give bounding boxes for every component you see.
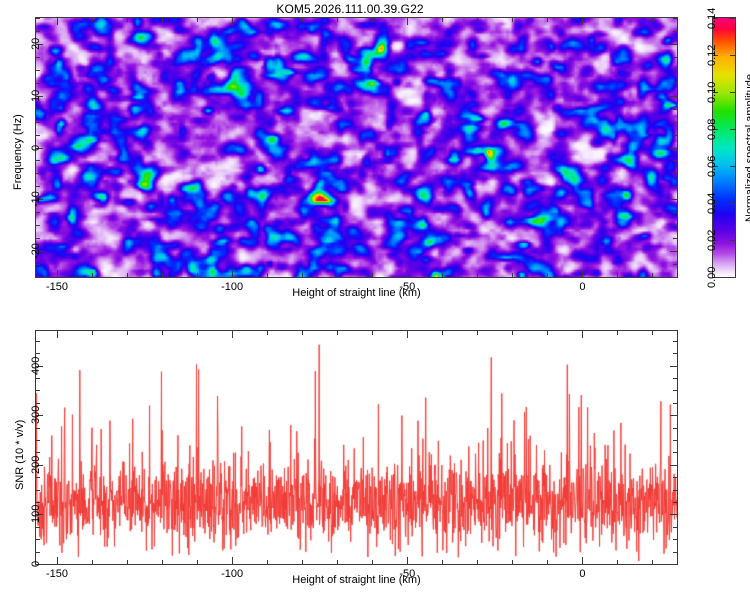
y-minor-tick (673, 440, 677, 441)
y-minor-tick (36, 502, 40, 503)
page-title: KOM5.2026.111.00.39.G22 (0, 2, 700, 16)
y-minor-tick (673, 238, 677, 239)
x-minor-tick (372, 560, 373, 564)
y-minor-tick (36, 277, 40, 278)
x-major-tick (57, 18, 58, 25)
x-minor-tick (267, 560, 268, 564)
y-minor-tick (36, 70, 40, 71)
y-minor-tick (36, 490, 40, 491)
y-minor-tick (36, 527, 40, 528)
colorbar-tick (730, 18, 735, 19)
y-major-tick (670, 148, 677, 149)
x-minor-tick (197, 331, 198, 335)
x-minor-tick (302, 560, 303, 564)
y-minor-tick (673, 31, 677, 32)
y-minor-tick (673, 109, 677, 110)
y-minor-tick (673, 539, 677, 540)
y-minor-tick (36, 378, 40, 379)
x-minor-tick (652, 18, 653, 22)
x-major-tick (582, 270, 583, 277)
y-minor-tick (36, 238, 40, 239)
x-minor-tick (197, 560, 198, 564)
y-minor-tick (673, 490, 677, 491)
y-major-tick (670, 465, 677, 466)
y-minor-tick (36, 122, 40, 123)
y-major-tick (670, 514, 677, 515)
x-minor-tick (547, 560, 548, 564)
figure-root: KOM5.2026.111.00.39.G22 -150-100-500-20-… (0, 0, 750, 600)
x-major-tick (407, 331, 408, 338)
colorbar-tick (730, 277, 735, 278)
x-major-tick (57, 270, 58, 277)
y-minor-tick (36, 135, 40, 136)
y-minor-tick (36, 452, 40, 453)
x-minor-tick (442, 560, 443, 564)
colorbar-tick-label: 0.02 (706, 229, 718, 250)
colorbar-tick-label: 0.08 (706, 118, 718, 139)
y-minor-tick (673, 428, 677, 429)
x-minor-tick (617, 18, 618, 22)
y-major-tick (670, 415, 677, 416)
x-minor-tick (127, 560, 128, 564)
x-minor-tick (162, 273, 163, 277)
y-minor-tick (36, 186, 40, 187)
y-tick-label: -10 (30, 191, 42, 207)
x-major-tick (582, 557, 583, 564)
x-major-tick (232, 557, 233, 564)
y-minor-tick (36, 225, 40, 226)
x-minor-tick (617, 331, 618, 335)
x-major-tick (57, 557, 58, 564)
y-minor-tick (673, 552, 677, 553)
x-major-tick (407, 557, 408, 564)
y-minor-tick (673, 160, 677, 161)
x-minor-tick (337, 560, 338, 564)
spectrogram-x-axis-label: Height of straight line (km) (0, 287, 713, 299)
x-major-tick (582, 18, 583, 25)
y-minor-tick (673, 277, 677, 278)
x-minor-tick (477, 560, 478, 564)
y-minor-tick (36, 212, 40, 213)
y-major-tick (670, 366, 677, 367)
y-tick-label: 100 (30, 505, 42, 523)
colorbar-tick (730, 92, 735, 93)
y-minor-tick (36, 57, 40, 58)
y-minor-tick (673, 173, 677, 174)
y-minor-tick (673, 186, 677, 187)
spectrogram-image (36, 18, 677, 277)
y-tick-label: 10 (30, 89, 42, 101)
y-minor-tick (673, 403, 677, 404)
y-minor-tick (36, 353, 40, 354)
x-major-tick (232, 18, 233, 25)
x-minor-tick (197, 18, 198, 22)
y-minor-tick (36, 403, 40, 404)
y-minor-tick (673, 452, 677, 453)
colorbar-tick-label: 0.00 (706, 266, 718, 287)
x-minor-tick (547, 331, 548, 335)
y-minor-tick (36, 552, 40, 553)
x-minor-tick (92, 560, 93, 564)
x-minor-tick (127, 331, 128, 335)
spectrogram-y-axis-label: Frequency (Hz) (12, 114, 24, 190)
x-major-tick (232, 270, 233, 277)
y-tick-label: 200 (30, 455, 42, 473)
x-minor-tick (652, 331, 653, 335)
x-minor-tick (547, 18, 548, 22)
colorbar-tick-label: 0.06 (706, 155, 718, 176)
x-minor-tick (372, 331, 373, 335)
y-minor-tick (673, 122, 677, 123)
colorbar-tick (730, 129, 735, 130)
colorbar-tick (730, 166, 735, 167)
y-tick-label: 300 (30, 406, 42, 424)
x-minor-tick (652, 560, 653, 564)
y-minor-tick (673, 70, 677, 71)
y-minor-tick (36, 31, 40, 32)
x-minor-tick (337, 18, 338, 22)
snr-x-axis-label: Height of straight line (km) (0, 574, 713, 586)
y-minor-tick (673, 18, 677, 19)
x-minor-tick (92, 331, 93, 335)
y-minor-tick (673, 378, 677, 379)
snr-y-axis-label: SNR (10 * v/v) (14, 420, 26, 490)
x-minor-tick (197, 273, 198, 277)
y-minor-tick (36, 390, 40, 391)
y-minor-tick (36, 173, 40, 174)
x-minor-tick (512, 18, 513, 22)
y-minor-tick (36, 109, 40, 110)
x-minor-tick (337, 273, 338, 277)
x-minor-tick (302, 18, 303, 22)
x-major-tick (407, 18, 408, 25)
y-minor-tick (673, 353, 677, 354)
y-minor-tick (673, 57, 677, 58)
x-major-tick (407, 270, 408, 277)
colorbar-tick (730, 240, 735, 241)
y-tick-label: -20 (30, 243, 42, 259)
y-tick-label: 0 (30, 144, 42, 150)
y-minor-tick (673, 527, 677, 528)
colorbar-tick-label: 0.10 (706, 81, 718, 102)
y-major-tick (670, 44, 677, 45)
snr-panel (35, 330, 678, 565)
colorbar-tick-label: 0.14 (706, 7, 718, 28)
y-major-tick (670, 251, 677, 252)
x-minor-tick (477, 18, 478, 22)
x-minor-tick (267, 273, 268, 277)
x-minor-tick (617, 273, 618, 277)
x-minor-tick (337, 331, 338, 335)
colorbar-tick-label: 0.12 (706, 44, 718, 65)
y-major-tick (670, 96, 677, 97)
x-minor-tick (477, 273, 478, 277)
y-minor-tick (673, 135, 677, 136)
colorbar-label: Normalized spectral amplitude (744, 74, 750, 222)
x-minor-tick (617, 560, 618, 564)
x-minor-tick (92, 18, 93, 22)
y-minor-tick (673, 212, 677, 213)
y-minor-tick (36, 440, 40, 441)
y-minor-tick (673, 225, 677, 226)
x-minor-tick (127, 273, 128, 277)
y-minor-tick (36, 18, 40, 19)
y-major-tick (670, 199, 677, 200)
x-minor-tick (442, 331, 443, 335)
y-minor-tick (36, 341, 40, 342)
x-minor-tick (267, 331, 268, 335)
x-minor-tick (162, 18, 163, 22)
x-minor-tick (302, 331, 303, 335)
x-minor-tick (372, 18, 373, 22)
x-minor-tick (442, 273, 443, 277)
x-major-tick (582, 331, 583, 338)
x-minor-tick (442, 18, 443, 22)
y-minor-tick (36, 477, 40, 478)
x-minor-tick (512, 560, 513, 564)
y-major-tick (670, 564, 677, 565)
x-minor-tick (512, 331, 513, 335)
y-minor-tick (36, 83, 40, 84)
x-minor-tick (127, 18, 128, 22)
x-minor-tick (652, 273, 653, 277)
y-minor-tick (673, 83, 677, 84)
y-minor-tick (673, 502, 677, 503)
y-minor-tick (673, 390, 677, 391)
x-minor-tick (267, 18, 268, 22)
x-minor-tick (547, 273, 548, 277)
y-minor-tick (673, 264, 677, 265)
y-tick-label: 20 (30, 38, 42, 50)
y-minor-tick (36, 264, 40, 265)
y-minor-tick (673, 341, 677, 342)
x-minor-tick (512, 273, 513, 277)
x-major-tick (232, 331, 233, 338)
snr-trace (36, 331, 677, 564)
y-tick-label: 0 (30, 561, 42, 567)
x-minor-tick (92, 273, 93, 277)
spectrogram-panel (35, 17, 678, 278)
colorbar-tick-label: 0.04 (706, 192, 718, 213)
y-minor-tick (673, 477, 677, 478)
x-major-tick (57, 331, 58, 338)
colorbar-tick (730, 203, 735, 204)
x-minor-tick (477, 331, 478, 335)
y-minor-tick (36, 428, 40, 429)
y-tick-label: 400 (30, 356, 42, 374)
x-minor-tick (372, 273, 373, 277)
y-minor-tick (36, 160, 40, 161)
x-minor-tick (162, 560, 163, 564)
x-minor-tick (162, 331, 163, 335)
colorbar-tick (730, 55, 735, 56)
x-minor-tick (302, 273, 303, 277)
y-minor-tick (36, 539, 40, 540)
